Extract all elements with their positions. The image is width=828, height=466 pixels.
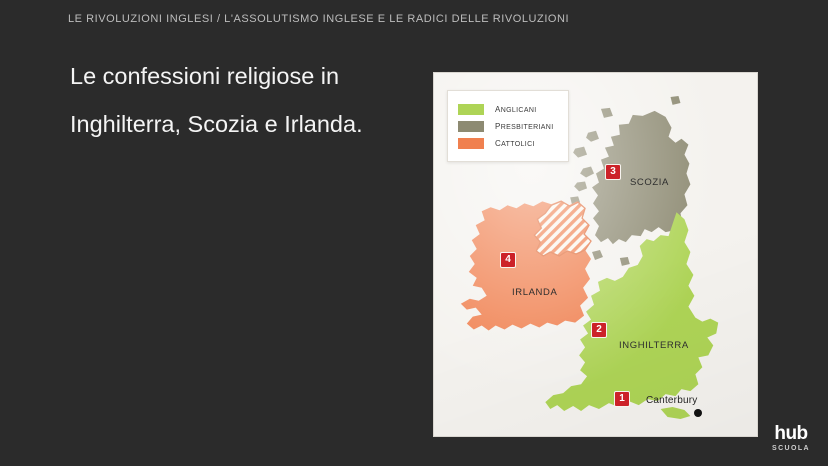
legend-label-cattolici: Cattolici <box>495 137 535 149</box>
map-legend: Anglicani Presbiteriani Cattolici <box>447 90 569 162</box>
map-marker-2[interactable]: 2 <box>591 322 607 338</box>
legend-label-presbiteriani: Presbiteriani <box>495 120 554 132</box>
map-marker-3[interactable]: 3 <box>605 164 621 180</box>
map-marker-4[interactable]: 4 <box>500 252 516 268</box>
page-title: Le confessioni religiose in Inghilterra,… <box>70 52 420 148</box>
legend-label-anglicani: Anglicani <box>495 103 537 115</box>
legend-item-presbiteriani: Presbiteriani <box>458 118 554 134</box>
breadcrumb-eyebrow: LE RIVOLUZIONI INGLESI / L'ASSOLUTISMO I… <box>68 13 569 25</box>
map-point-canterbury-dot <box>694 409 702 417</box>
legend-swatch-presbiteriani <box>458 121 484 132</box>
legend-item-cattolici: Cattolici <box>458 135 554 151</box>
map-marker-1[interactable]: 1 <box>614 391 630 407</box>
page-title-line-2: Inghilterra, Scozia e Irlanda. <box>70 100 420 148</box>
map-label-inghilterra: INGHILTERRA <box>619 340 689 351</box>
logo-primary-text: hub <box>772 424 810 443</box>
legend-swatch-cattolici <box>458 138 484 149</box>
hub-scuola-logo: hub SCUOLA <box>772 424 810 452</box>
map-panel: Anglicani Presbiteriani Cattolici SCOZIA… <box>433 72 758 437</box>
logo-secondary-text: SCUOLA <box>772 445 810 452</box>
page-title-line-1: Le confessioni religiose in <box>70 52 420 100</box>
slide-canvas: LE RIVOLUZIONI INGLESI / L'ASSOLUTISMO I… <box>0 0 828 466</box>
map-label-canterbury: Canterbury <box>646 395 697 406</box>
map-label-scozia: SCOZIA <box>630 177 669 188</box>
region-irlanda <box>461 200 591 330</box>
legend-item-anglicani: Anglicani <box>458 101 554 117</box>
map-label-irlanda: IRLANDA <box>512 287 557 298</box>
legend-swatch-anglicani <box>458 104 484 115</box>
